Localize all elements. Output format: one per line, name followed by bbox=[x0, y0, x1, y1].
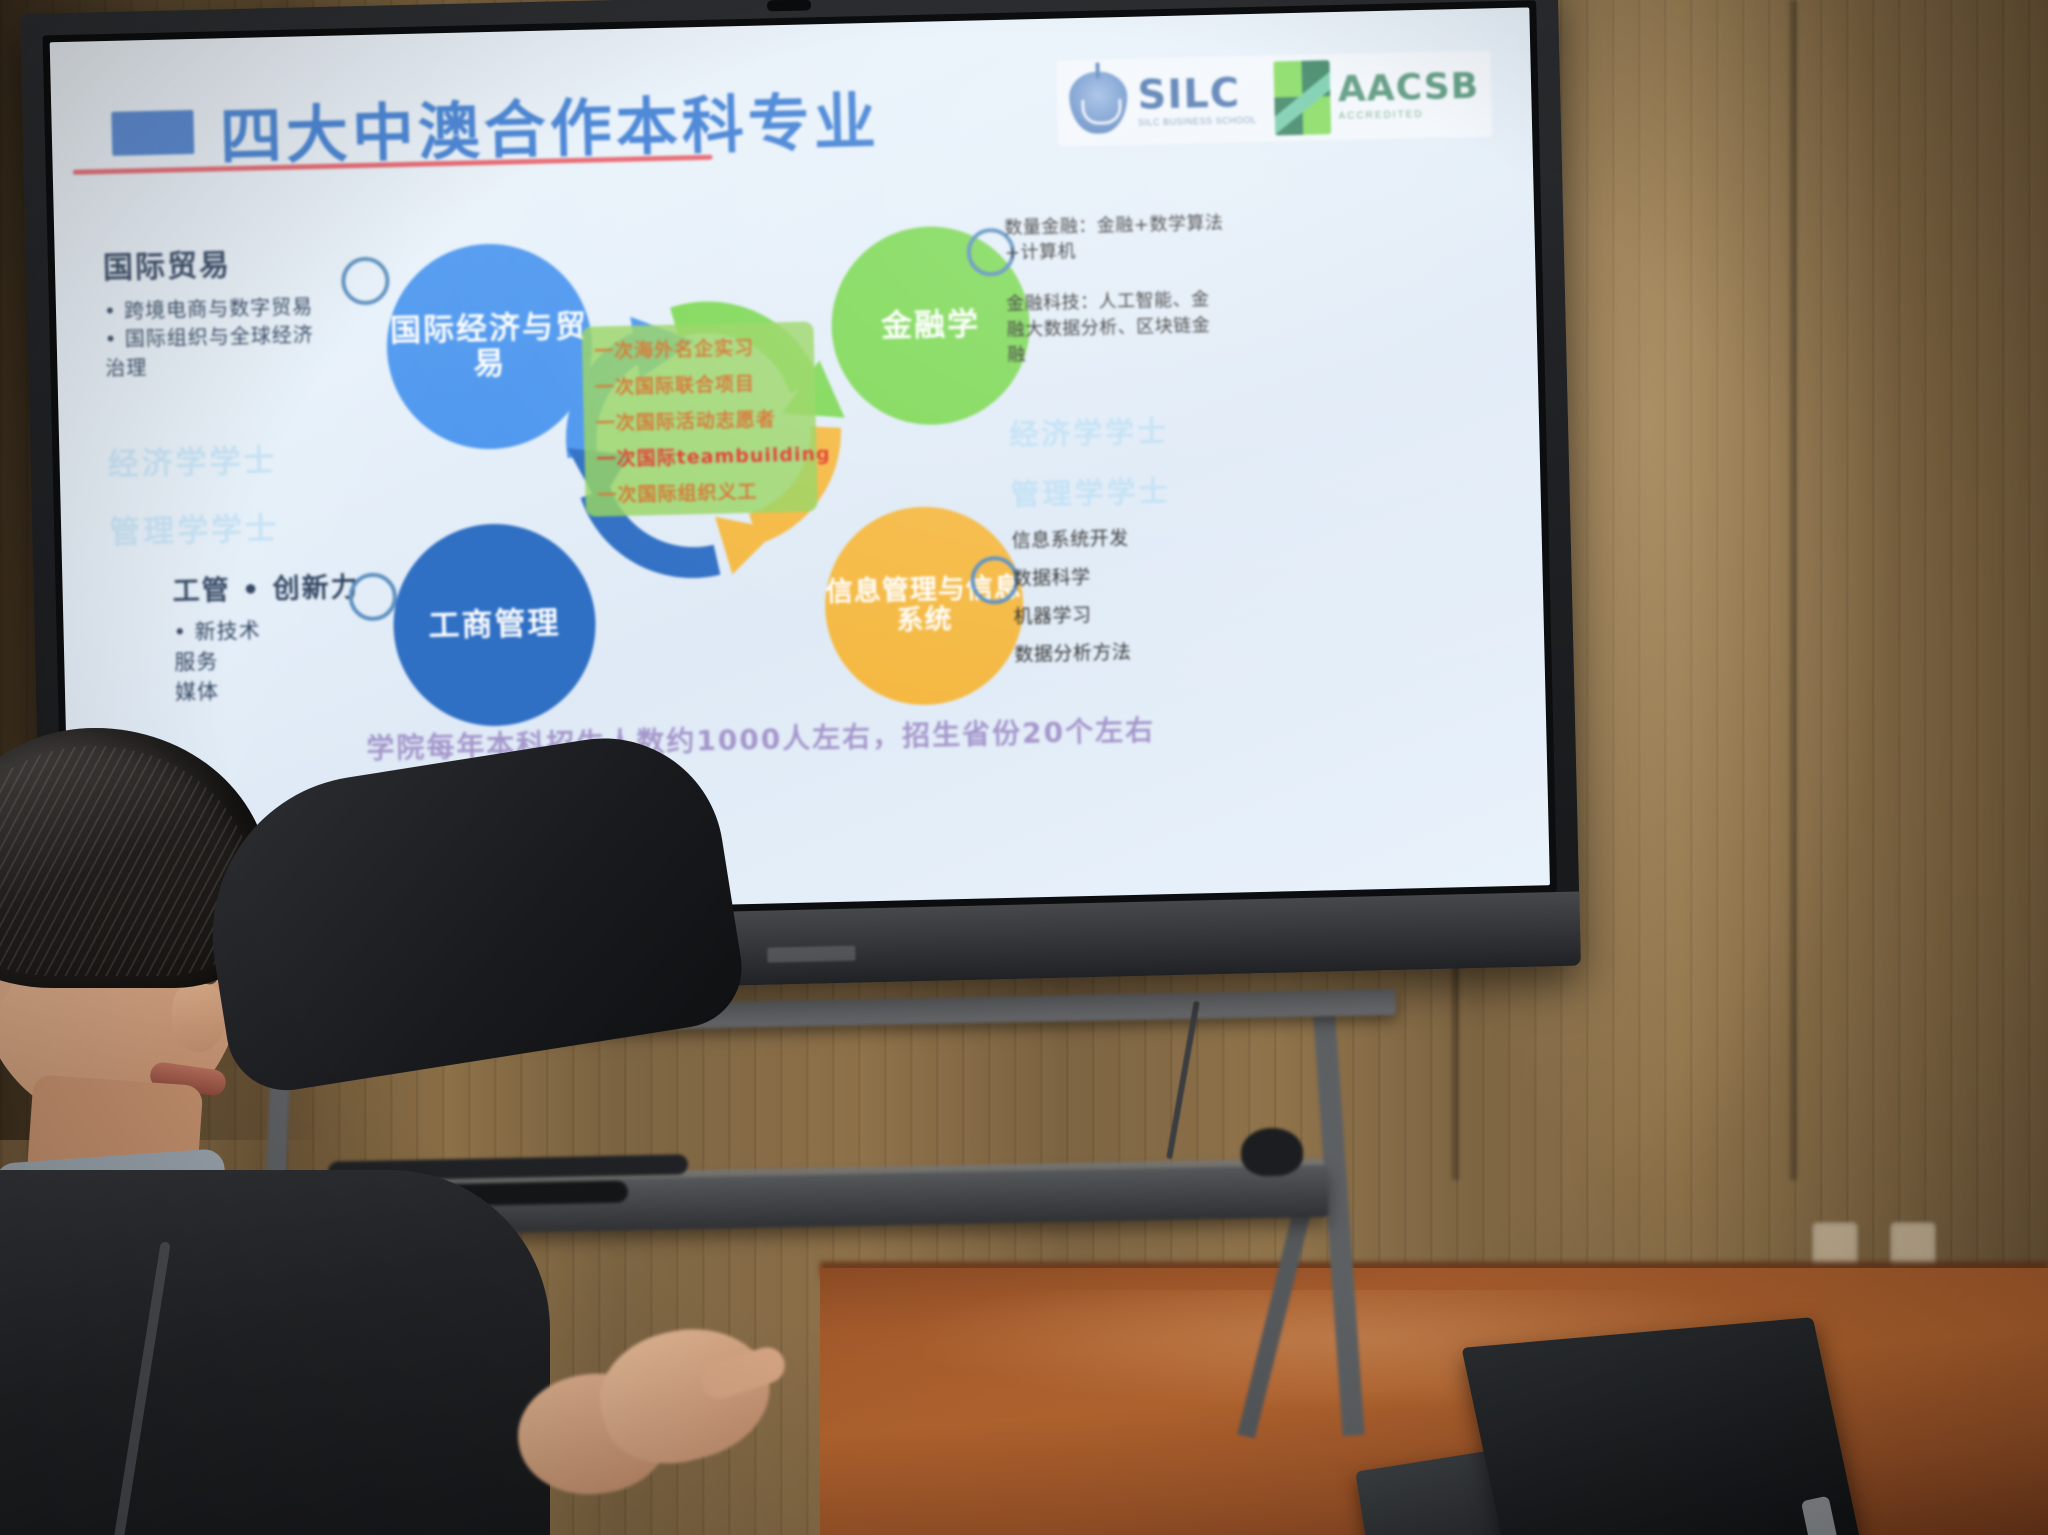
cycle-line-5: 一次国际组织义工 bbox=[597, 475, 806, 507]
wall-panel-seam bbox=[1790, 0, 1797, 1180]
right-block-2: 金融科技：人工智能、金融大数据分析、区块链金融 bbox=[1006, 287, 1228, 368]
right-text-column: 数量金融：金融+数学算法+计算机 金融科技：人工智能、金融大数据分析、区块链金融 bbox=[1004, 211, 1228, 394]
aacsb-mark-icon bbox=[1273, 60, 1331, 135]
display-brand-logo bbox=[767, 946, 855, 963]
silc-wordmark: SILC bbox=[1137, 73, 1256, 116]
cycle-center-box: 一次海外名企实习 一次国际联合项目 一次国际活动志愿者 一次国际teambuil… bbox=[582, 321, 818, 516]
bullet-ring-icon bbox=[341, 256, 390, 305]
laptop[interactable] bbox=[1360, 1388, 1920, 1535]
silc-subtitle: SILC BUSINESS SCHOOL bbox=[1138, 116, 1257, 128]
logo-group: SILC SILC BUSINESS SCHOOL AACSB ACCREDIT… bbox=[1057, 50, 1493, 146]
cycle-line-1: 一次海外名企实习 bbox=[594, 331, 803, 363]
cycle-line-2: 一次国际联合项目 bbox=[595, 367, 804, 399]
right-faded-degree-1: 经济学学士 bbox=[1009, 408, 1170, 454]
aacsb-logo: AACSB ACCREDITED bbox=[1273, 57, 1480, 136]
right-list-item-3: 机器学习 bbox=[1013, 593, 1234, 636]
laptop-lid bbox=[1461, 1317, 1860, 1535]
stand-leg-right bbox=[1313, 1016, 1364, 1437]
cycle-line-3: 一次国际活动志愿者 bbox=[595, 403, 804, 435]
right-block-1: 数量金融：金融+数学算法+计算机 bbox=[1004, 211, 1225, 267]
right-list-item-2: 数据科学 bbox=[1012, 555, 1233, 598]
meeting-room-scene: 四大中澳合作本科专业 SILC SILC BUSINESS SCHOOL bbox=[0, 0, 2048, 1535]
aacsb-subtitle: ACCREDITED bbox=[1338, 109, 1479, 122]
university-crest-icon bbox=[1069, 71, 1128, 134]
left-heading: 国际贸易 bbox=[102, 237, 353, 287]
display-camera bbox=[767, 0, 811, 11]
right-list-item-1: 信息系统开发 bbox=[1011, 517, 1232, 560]
right-lower-list: 信息系统开发 数据科学 机器学习 数据分析方法 bbox=[1011, 517, 1235, 674]
stand-leg-brace bbox=[1237, 1201, 1313, 1438]
title-marker-block bbox=[111, 110, 194, 156]
left-text-column: 国际贸易 • 跨境电商与数字贸易 • 国际组织与全球经济 治理 bbox=[102, 237, 355, 382]
right-list-item-4: 数据分析方法 bbox=[1014, 631, 1235, 674]
left-lower-bullet-3: 媒体 bbox=[175, 673, 406, 708]
left-bullet-3: 治理 bbox=[105, 348, 356, 382]
presenter-jacket bbox=[0, 1170, 550, 1535]
cycle-line-4: 一次国际teambuilding bbox=[596, 439, 805, 471]
silc-logo: SILC SILC BUSINESS SCHOOL bbox=[1069, 68, 1257, 134]
left-faded-degree-1: 经济学学士 bbox=[107, 435, 278, 484]
right-faded-degree-2: 管理学学士 bbox=[1010, 468, 1171, 514]
left-faded-degree-2: 管理学学士 bbox=[109, 503, 280, 552]
remote-control-puck[interactable] bbox=[1241, 1127, 1304, 1176]
aacsb-wordmark: AACSB bbox=[1338, 69, 1480, 108]
